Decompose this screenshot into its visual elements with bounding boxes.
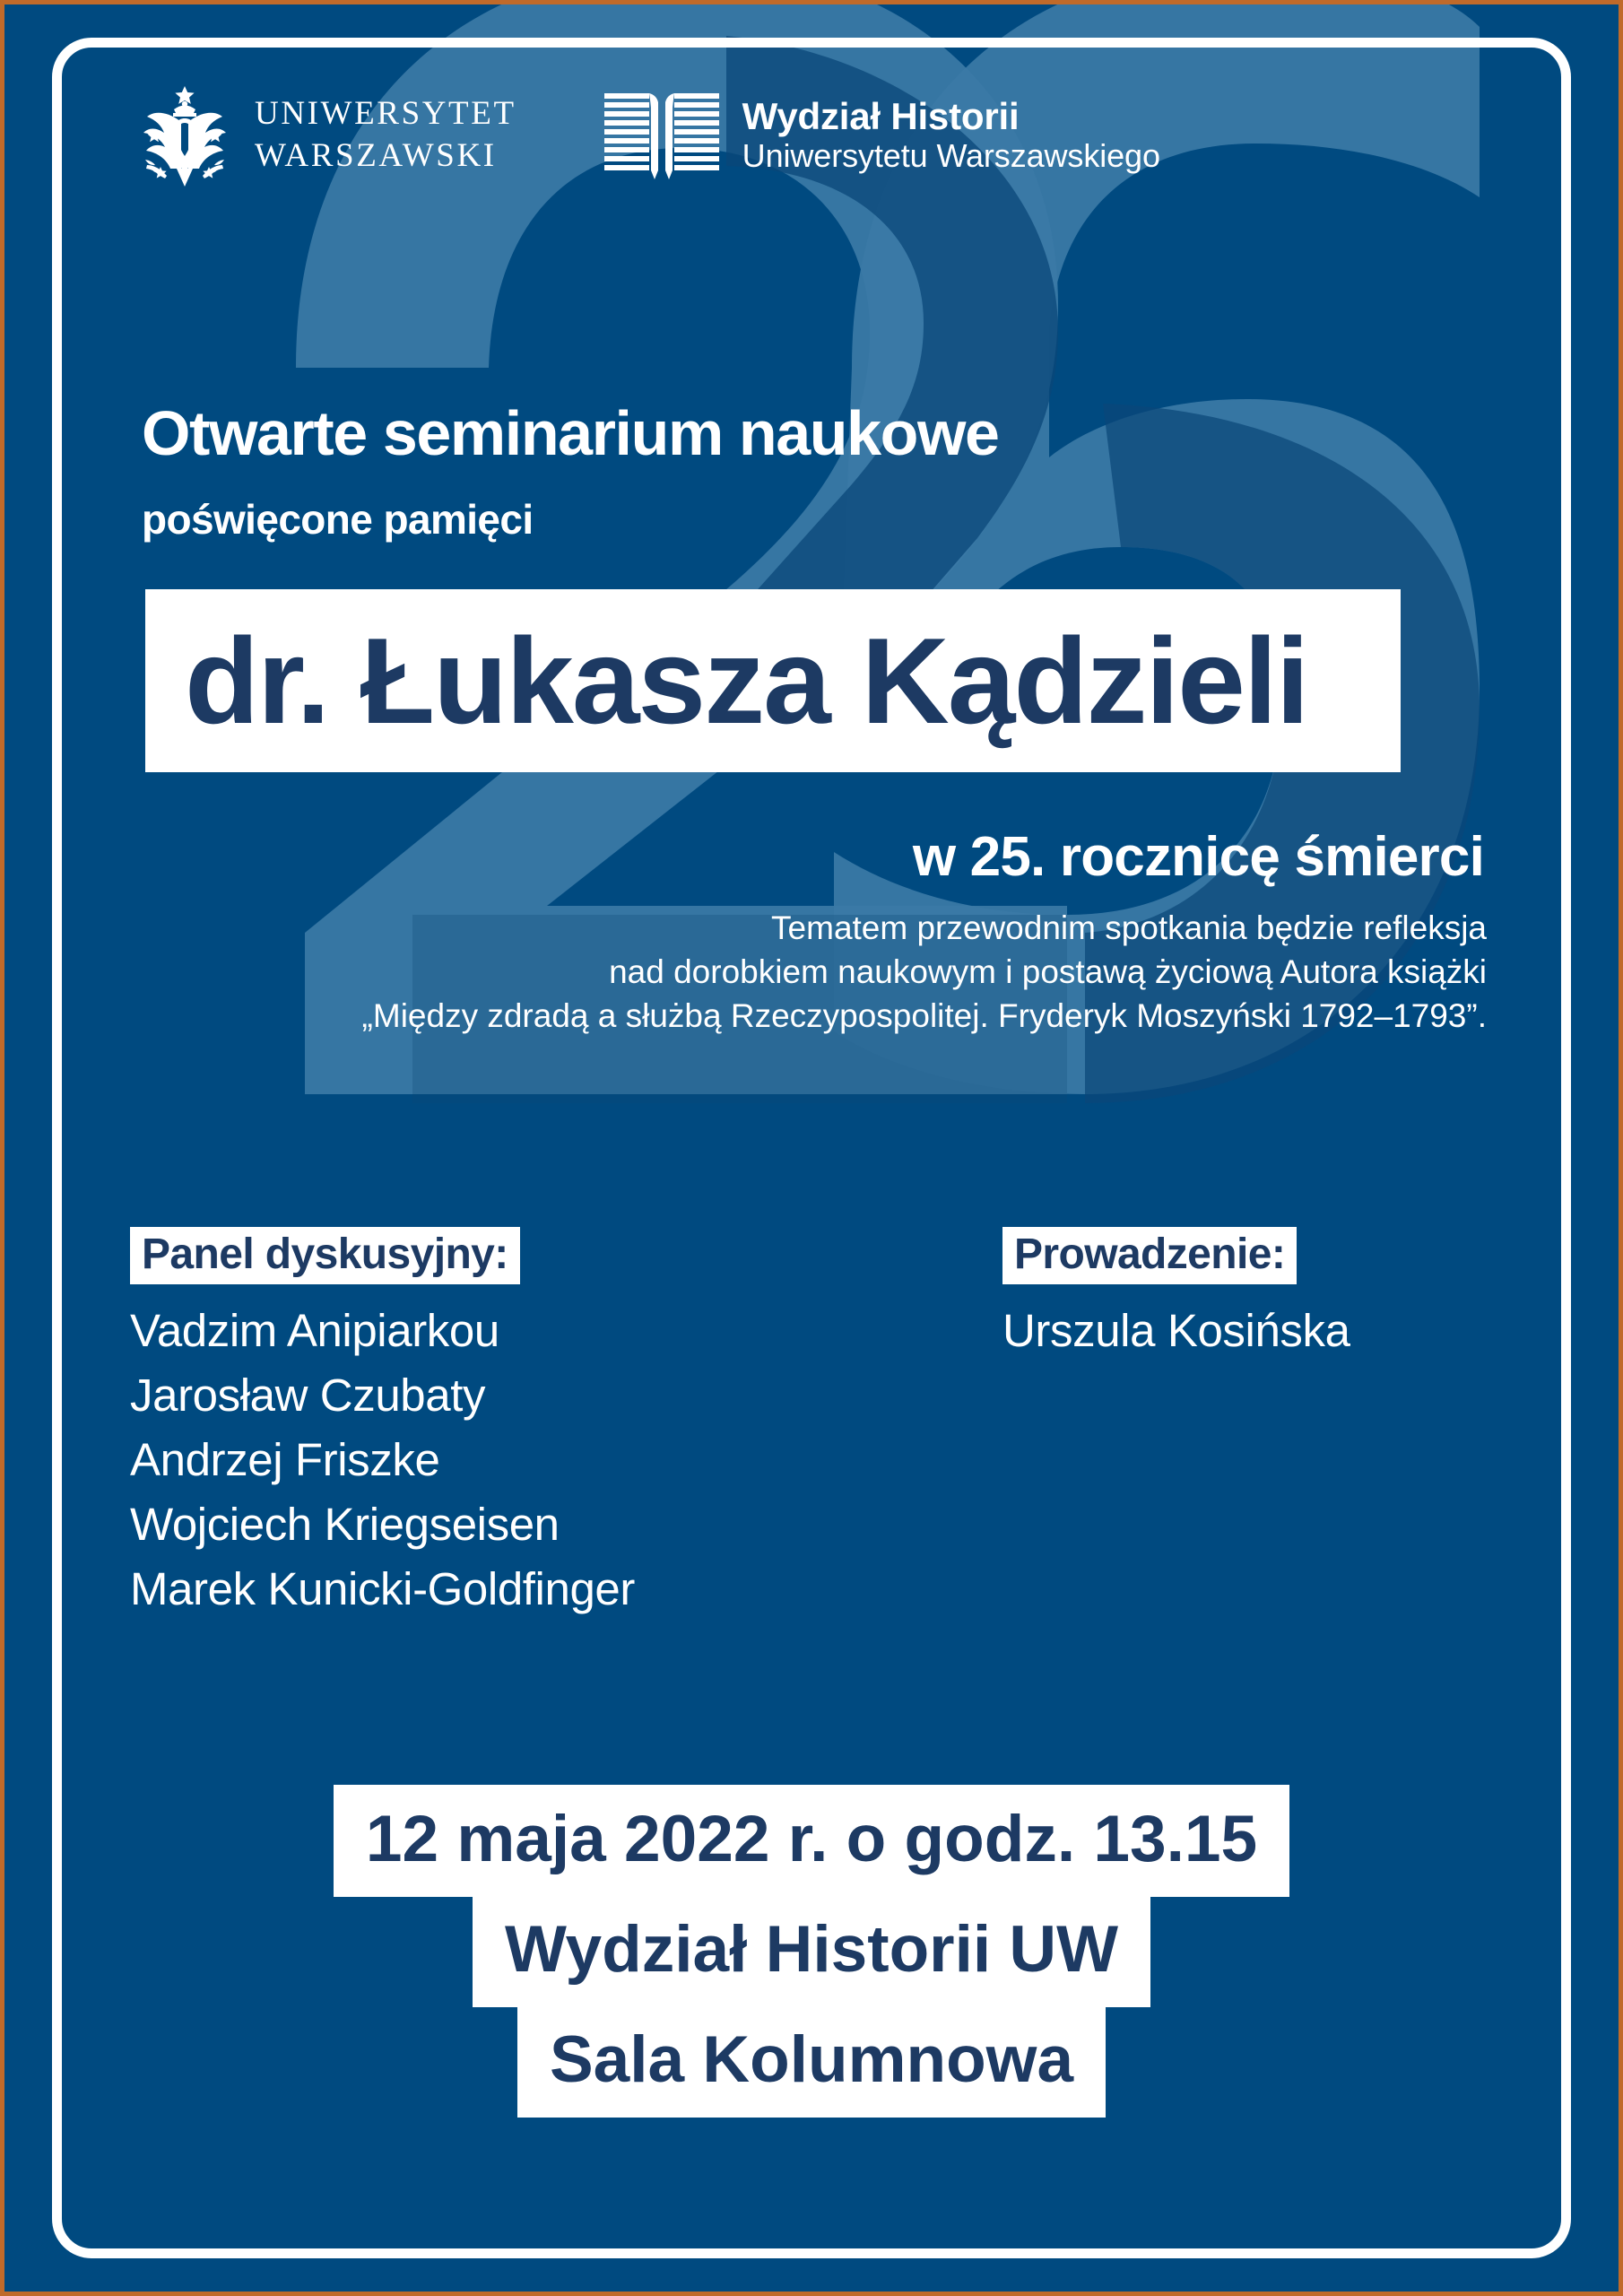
panel-member: Marek Kunicki-Goldfinger (130, 1557, 635, 1622)
honoree-name-banner: dr. Łukasza Kądzieli (145, 589, 1401, 772)
description-line-3: „Między zdradą a służbą Rzeczypospolitej… (0, 994, 1487, 1038)
panel-member: Vadzim Anipiarkou (130, 1299, 635, 1363)
panel-member: Jarosław Czubaty (130, 1363, 635, 1428)
university-of-warsaw-logo: UNIWERSYTET WARSZAWSKI (135, 83, 516, 188)
moderator-name: Urszula Kosińska (1002, 1299, 1350, 1363)
faculty-logo-text: Wydział Historii Uniwersytetu Warszawski… (742, 96, 1160, 176)
poster-subheadline: poświęcone pamięci (142, 495, 534, 544)
anniversary-line: w 25. rocznicę śmierci (913, 825, 1484, 889)
event-info-block: 12 maja 2022 r. o godz. 13.15 Wydział Hi… (0, 1785, 1623, 2118)
description-paragraph: Tematem przewodnim spotkania będzie refl… (0, 906, 1487, 1039)
event-room-bar: Sala Kolumnowa (517, 2005, 1106, 2118)
uw-logo-text: UNIWERSYTET WARSZAWSKI (255, 93, 516, 177)
moderator-section: Prowadzenie: Urszula Kosińska (1002, 1227, 1350, 1363)
description-line-2: nad dorobkiem naukowym i postawą życiową… (0, 950, 1487, 994)
uw-eagle-crest-icon (135, 83, 235, 188)
event-venue-bar: Wydział Historii UW (473, 1895, 1150, 2007)
panel-section-title: Panel dyskusyjny: (130, 1227, 520, 1284)
edge-strip-left (0, 0, 4, 2296)
edge-strip-right (1619, 0, 1623, 2296)
moderator-section-title: Prowadzenie: (1002, 1227, 1297, 1284)
uw-logo-line1: UNIWERSYTET (255, 93, 516, 135)
honoree-name: dr. Łukasza Kądzieli (145, 620, 1307, 742)
poster-headline: Otwarte seminarium naukowe (142, 397, 999, 469)
faculty-logo-line2: Uniwersytetu Warszawskiego (742, 137, 1160, 175)
panel-member: Andrzej Friszke (130, 1428, 635, 1492)
panel-member: Wojciech Kriegseisen (130, 1492, 635, 1557)
panel-section: Panel dyskusyjny: Vadzim Anipiarkou Jaro… (130, 1227, 635, 1622)
faculty-of-history-logo: Wydział Historii Uniwersytetu Warszawski… (603, 88, 1160, 183)
poster-root: UNIWERSYTET WARSZAWSKI (0, 0, 1623, 2296)
uw-logo-line2: WARSZAWSKI (255, 135, 516, 178)
header-logos: UNIWERSYTET WARSZAWSKI (135, 83, 1160, 188)
edge-strip-bottom (0, 2292, 1623, 2296)
event-datetime-bar: 12 maja 2022 r. o godz. 13.15 (334, 1785, 1289, 1897)
open-book-icon (603, 88, 721, 183)
moderator-list: Urszula Kosińska (1002, 1299, 1350, 1363)
edge-strip-top (0, 0, 1623, 4)
panel-member-list: Vadzim Anipiarkou Jarosław Czubaty Andrz… (130, 1299, 635, 1622)
faculty-logo-line1: Wydział Historii (742, 96, 1160, 137)
description-line-1: Tematem przewodnim spotkania będzie refl… (0, 906, 1487, 950)
